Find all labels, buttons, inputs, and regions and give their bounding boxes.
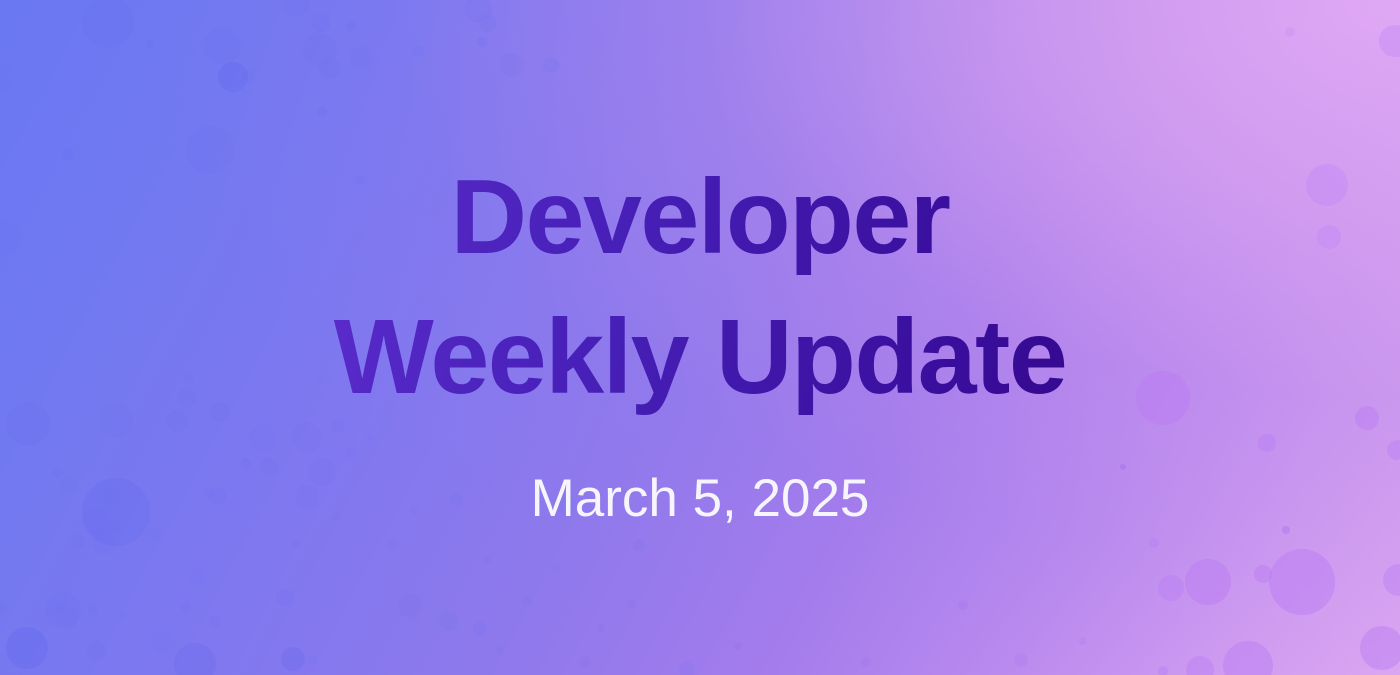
developer-weekly-update-banner: Developer Weekly Update March 5, 2025 — [0, 0, 1400, 675]
page-title-line-1: Developer — [334, 147, 1067, 287]
banner-content: Developer Weekly Update March 5, 2025 — [0, 0, 1400, 675]
page-title: Developer Weekly Update — [334, 147, 1067, 427]
page-title-line-2: Weekly Update — [334, 287, 1067, 427]
banner-date: March 5, 2025 — [531, 469, 870, 529]
